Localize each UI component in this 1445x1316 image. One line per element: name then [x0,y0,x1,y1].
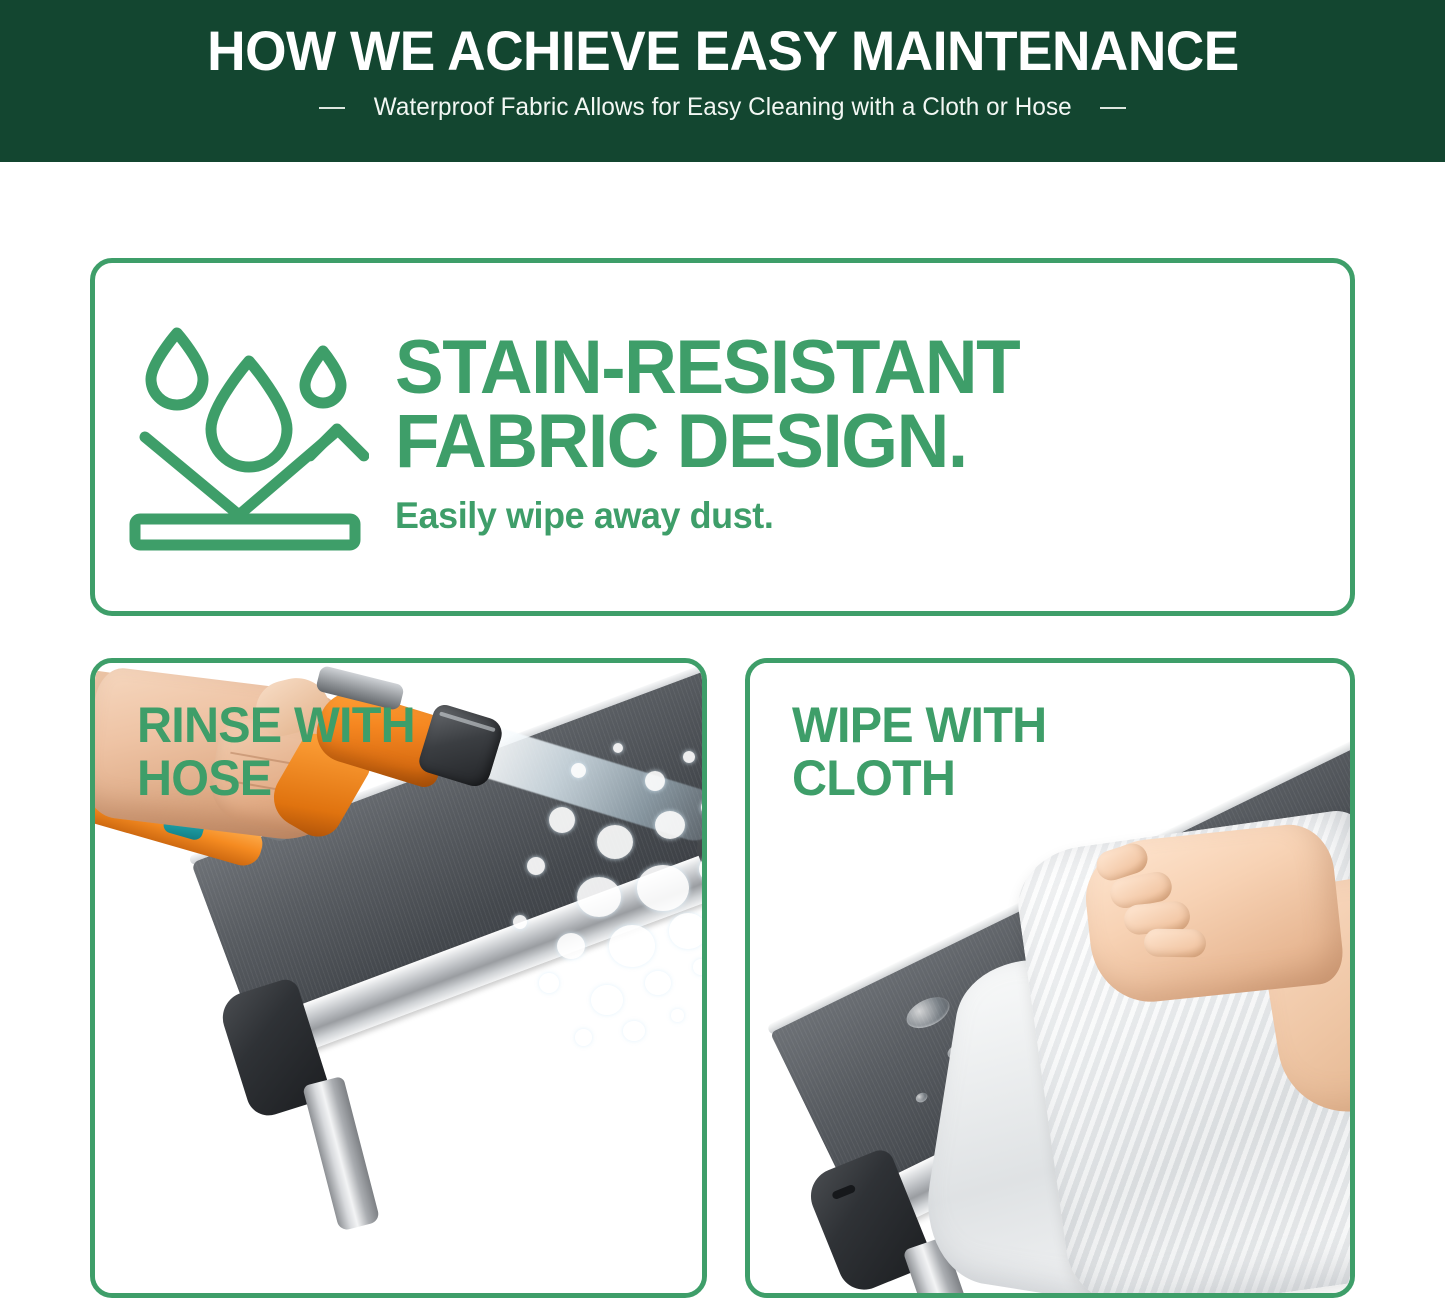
water-repellent-fabric-icon [121,319,369,555]
dash-left-icon [319,107,345,109]
page-title: HOW WE ACHIEVE EASY MAINTENANCE [207,22,1239,79]
feature-card-rinse-with-hose: RINSE WITH HOSE [90,658,707,1298]
hand-wiping-cot-with-towel-photo [750,663,1350,1293]
dash-right-icon [1100,107,1126,109]
page-header: HOW WE ACHIEVE EASY MAINTENANCE Waterpro… [0,0,1445,162]
hero-heading: STAIN-RESISTANT FABRIC DESIGN. [395,331,1289,478]
subtitle-row: Waterproof Fabric Allows for Easy Cleani… [319,93,1127,122]
surface-bar-icon [135,519,355,545]
hero-icon-container [95,263,395,611]
hero-text-block: STAIN-RESISTANT FABRIC DESIGN. Easily wi… [395,331,1350,536]
hero-heading-line-1: STAIN-RESISTANT [395,331,1289,405]
hand-spraying-hose-on-cot-photo [95,663,702,1293]
hero-card: STAIN-RESISTANT FABRIC DESIGN. Easily wi… [90,258,1355,616]
fingers [1094,841,1222,943]
page-subtitle: Waterproof Fabric Allows for Easy Cleani… [374,93,1072,122]
feature-card-wipe-with-cloth: WIPE WITH CLOTH [745,658,1355,1298]
hose-and-hand-graphic [95,663,702,1293]
infographic-page: HOW WE ACHIEVE EASY MAINTENANCE Waterpro… [0,0,1445,1316]
hero-subheading: Easily wipe away dust. [395,495,1298,537]
hero-heading-line-2: FABRIC DESIGN. [395,405,1289,479]
